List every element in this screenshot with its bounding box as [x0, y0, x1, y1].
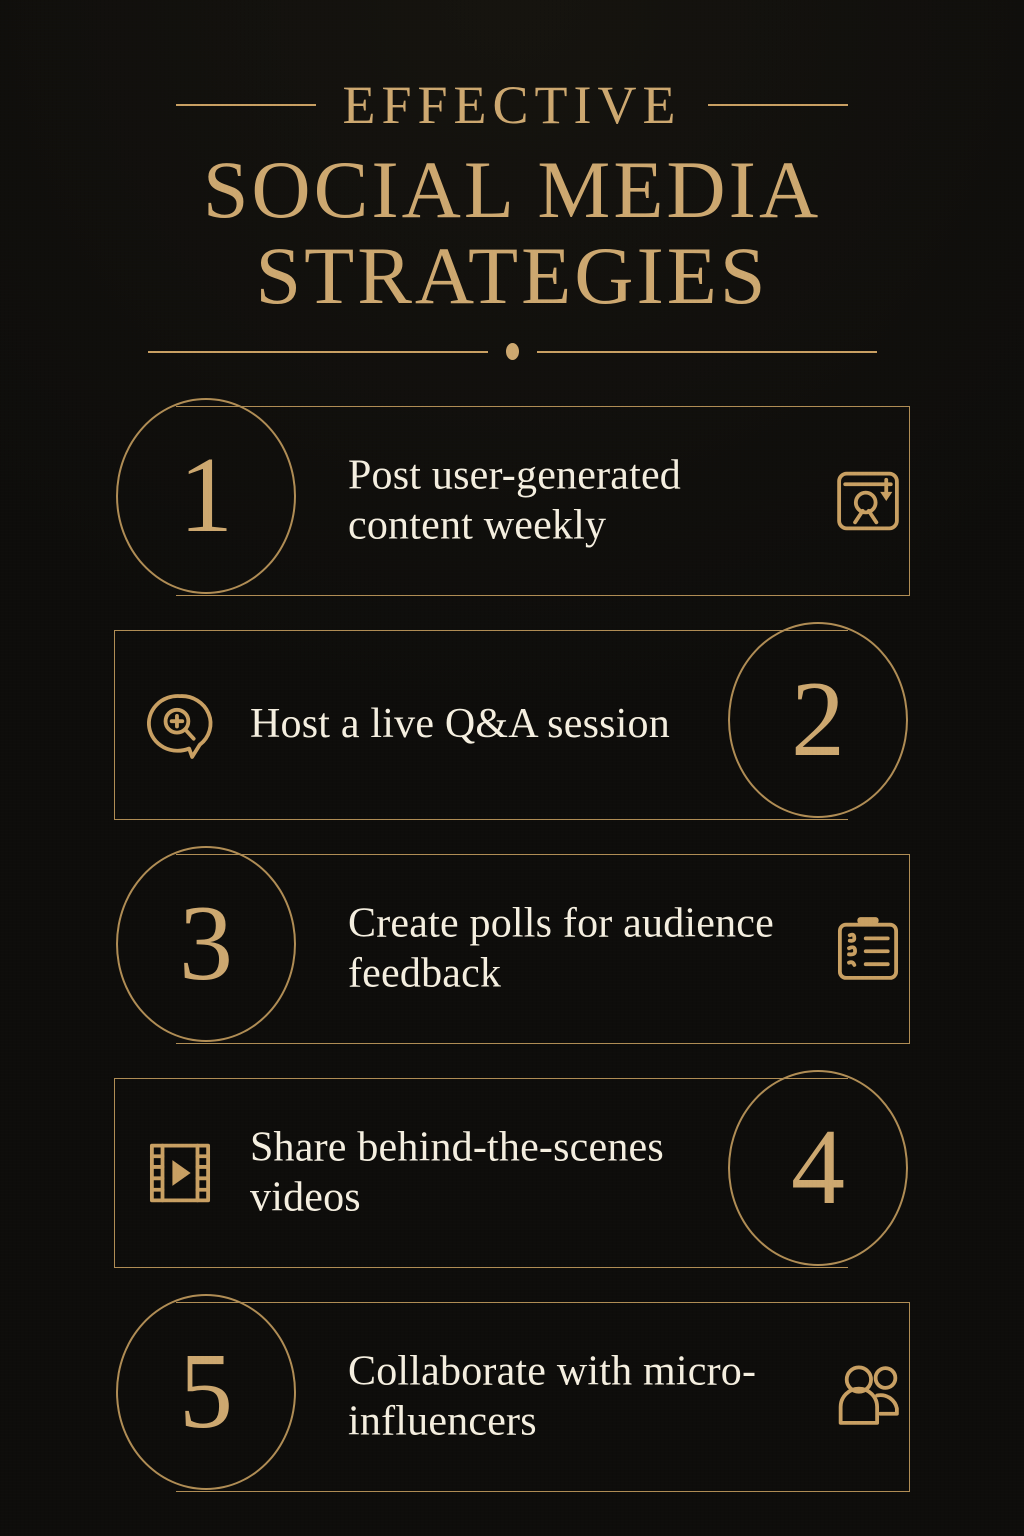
- item-number: 1: [179, 442, 233, 550]
- divider-dot-icon: [506, 343, 519, 360]
- item-text: Post user-generated content weekly: [348, 451, 778, 550]
- item-number: 3: [179, 890, 233, 998]
- page-title-line-2: STRATEGIES: [0, 234, 1024, 318]
- item-number: 2: [791, 666, 845, 774]
- title-divider: [0, 343, 1024, 360]
- item-number: 5: [179, 1338, 233, 1446]
- page-title-line-1: SOCIAL MEDIA: [0, 148, 1024, 232]
- list-item[interactable]: 4 Share behind-the-scenes videos: [0, 1070, 1024, 1276]
- eyebrow-row: EFFECTIVE: [0, 78, 1024, 132]
- item-number-badge: 5: [116, 1294, 296, 1490]
- strategy-list: 1 Post user-generated content weekly 2: [0, 398, 1024, 1518]
- item-text: Collaborate with micro-influencers: [348, 1347, 778, 1446]
- two-people-icon: [830, 1359, 906, 1435]
- item-number-badge: 1: [116, 398, 296, 594]
- list-item[interactable]: 1 Post user-generated content weekly: [0, 398, 1024, 604]
- item-number-badge: 4: [728, 1070, 908, 1266]
- item-number-badge: 3: [116, 846, 296, 1042]
- title-block: EFFECTIVE SOCIAL MEDIA STRATEGIES: [0, 78, 1024, 360]
- divider-rule-right: [537, 351, 877, 353]
- list-item[interactable]: 3 Create polls for audience feedback: [0, 846, 1024, 1052]
- film-strip-play-icon: [142, 1135, 218, 1211]
- eyebrow-rule-left: [176, 104, 316, 106]
- title-eyebrow: EFFECTIVE: [342, 78, 681, 132]
- list-item[interactable]: 5 Collaborate with micro-influencers: [0, 1294, 1024, 1500]
- item-text: Host a live Q&A session: [250, 700, 670, 750]
- eyebrow-rule-right: [708, 104, 848, 106]
- poster-canvas: EFFECTIVE SOCIAL MEDIA STRATEGIES 1 Post…: [0, 0, 1024, 1536]
- item-number-badge: 2: [728, 622, 908, 818]
- divider-rule-left: [148, 351, 488, 353]
- item-text: Share behind-the-scenes videos: [250, 1123, 680, 1222]
- clipboard-checklist-icon: [830, 911, 906, 987]
- user-frame-download-icon: [830, 463, 906, 539]
- item-number: 4: [791, 1114, 845, 1222]
- list-item[interactable]: 2 Host a live Q&A session: [0, 622, 1024, 828]
- speech-bubble-search-plus-icon: [142, 687, 218, 763]
- item-text: Create polls for audience feedback: [348, 899, 778, 998]
